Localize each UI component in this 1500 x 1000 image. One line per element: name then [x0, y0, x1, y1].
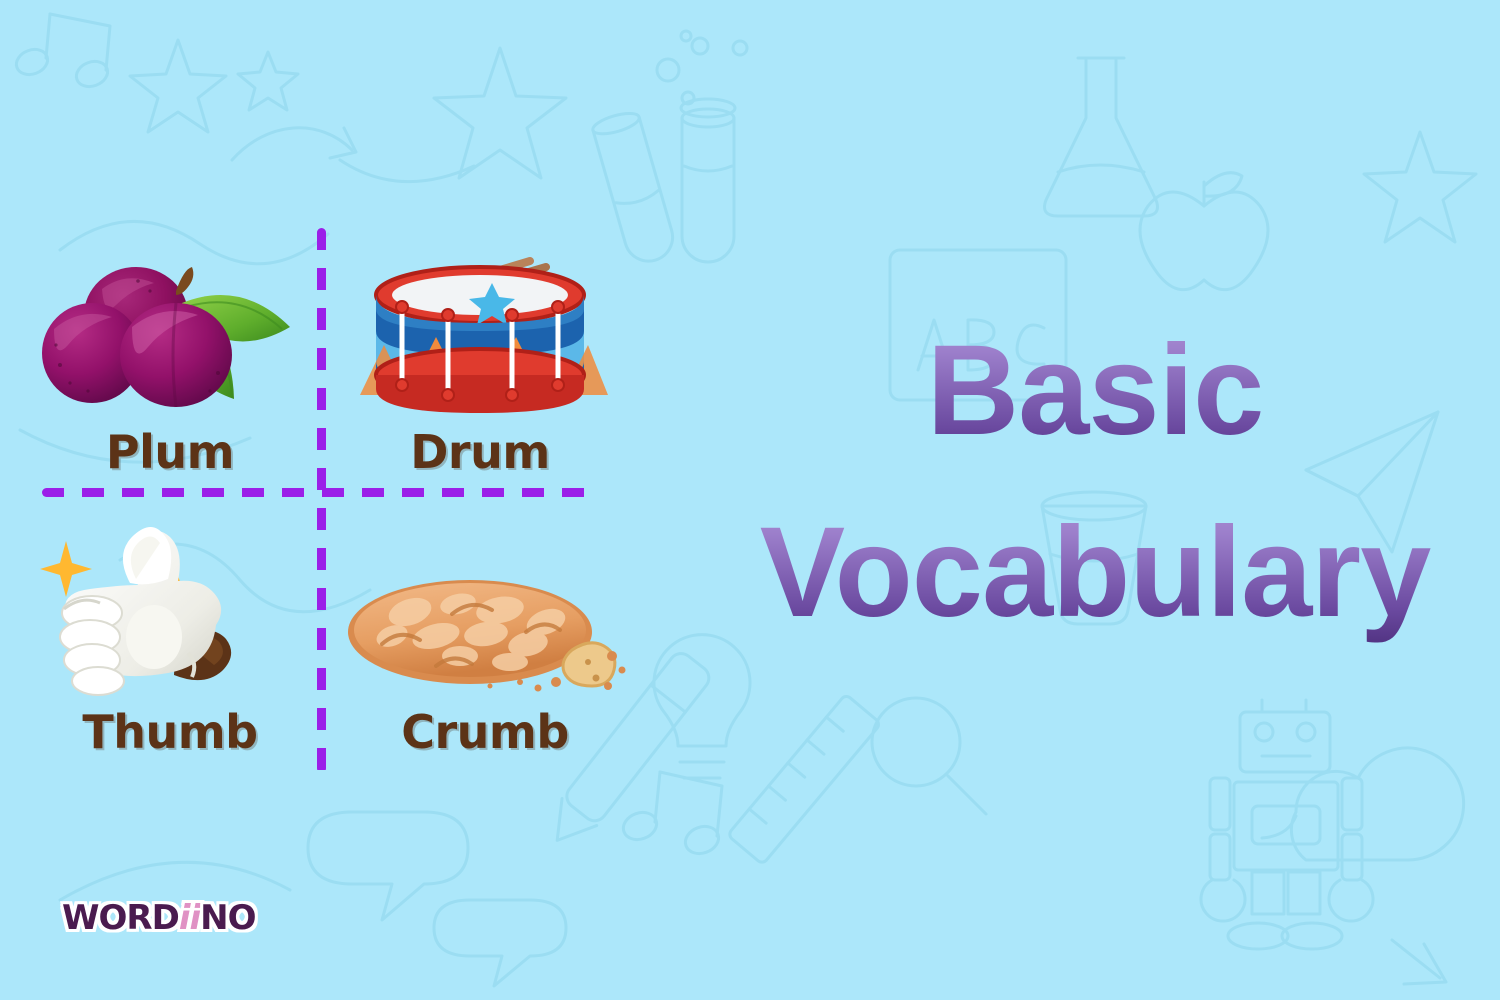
cloud-icon: [1291, 748, 1463, 860]
ruler-icon: [727, 694, 881, 865]
vertical-dashed-divider: [317, 228, 326, 773]
vocab-word-thumb: Thumb: [30, 705, 310, 759]
robot-icon: [1201, 700, 1373, 949]
logo-part-2: NO: [200, 898, 255, 938]
title-line-basic: Basic: [700, 300, 1490, 482]
title-line-vocabulary: Vocabulary: [700, 482, 1490, 664]
vocab-word-drum: Drum: [340, 425, 620, 479]
vocabulary-quadrant-grid: Plum: [0, 0, 700, 820]
logo-accent-ii: ii: [179, 898, 200, 938]
vocab-word-plum: Plum: [30, 425, 310, 479]
wordiino-logo[interactable]: WORDiiNO: [62, 898, 255, 938]
plum-illustration: [30, 245, 310, 425]
speech-bubble-icon: [308, 812, 468, 920]
star-icon: [1364, 132, 1476, 242]
vocab-word-crumb: Crumb: [340, 705, 630, 759]
thumbs-up-illustration: [30, 525, 310, 705]
arrow-icon: [1392, 940, 1446, 984]
magnifier-icon: [872, 698, 986, 814]
vocab-cell-crumb[interactable]: Crumb: [340, 570, 630, 759]
logo-part-1: WORD: [62, 898, 179, 938]
drum-illustration: [340, 245, 620, 425]
speech-bubble-icon: [434, 900, 566, 986]
page-title: Basic Vocabulary: [700, 300, 1490, 664]
vocab-cell-plum[interactable]: Plum: [30, 245, 310, 479]
apple-icon: [1140, 173, 1268, 290]
bread-crumb-illustration: [340, 570, 630, 705]
flask-icon: [1045, 58, 1158, 216]
vocab-cell-drum[interactable]: Drum: [340, 245, 620, 479]
vocab-cell-thumb[interactable]: Thumb: [30, 525, 310, 759]
